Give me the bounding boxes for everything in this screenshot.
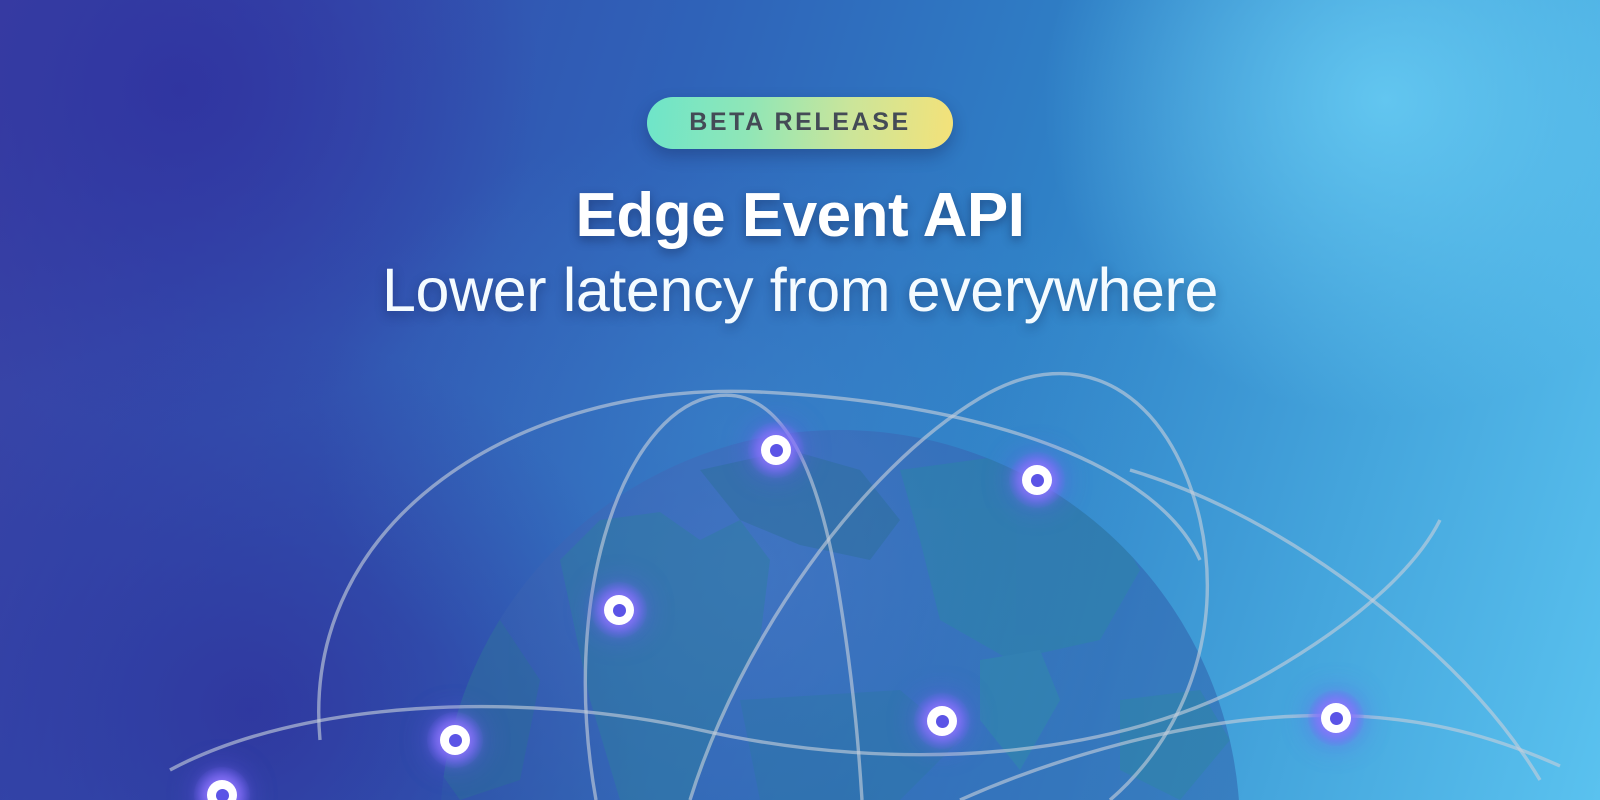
node-core-icon (1031, 474, 1044, 487)
edge-node-5[interactable] (427, 712, 483, 768)
node-ring-icon (1022, 465, 1052, 495)
node-core-icon (449, 734, 462, 747)
node-ring-icon (927, 706, 957, 736)
node-ring-icon (604, 595, 634, 625)
node-ring-icon (1321, 703, 1351, 733)
node-core-icon (770, 444, 783, 457)
node-ring-icon (440, 725, 470, 755)
page-title: Edge Event API (0, 183, 1600, 248)
edge-node-1[interactable] (748, 422, 804, 478)
hero-banner: BETA RELEASE Edge Event API Lower latenc… (0, 0, 1600, 800)
edge-node-3[interactable] (591, 582, 647, 638)
node-ring-icon (207, 780, 237, 800)
edge-node-6[interactable] (1308, 690, 1364, 746)
beta-release-badge[interactable]: BETA RELEASE (647, 97, 953, 149)
page-subtitle: Lower latency from everywhere (0, 256, 1600, 324)
node-core-icon (936, 715, 949, 728)
edge-node-4[interactable] (914, 693, 970, 749)
edge-node-2[interactable] (1009, 452, 1065, 508)
node-core-icon (216, 789, 229, 800)
node-core-icon (1330, 712, 1343, 725)
node-core-icon (613, 604, 626, 617)
node-ring-icon (761, 435, 791, 465)
hero-content: BETA RELEASE Edge Event API Lower latenc… (0, 0, 1600, 324)
